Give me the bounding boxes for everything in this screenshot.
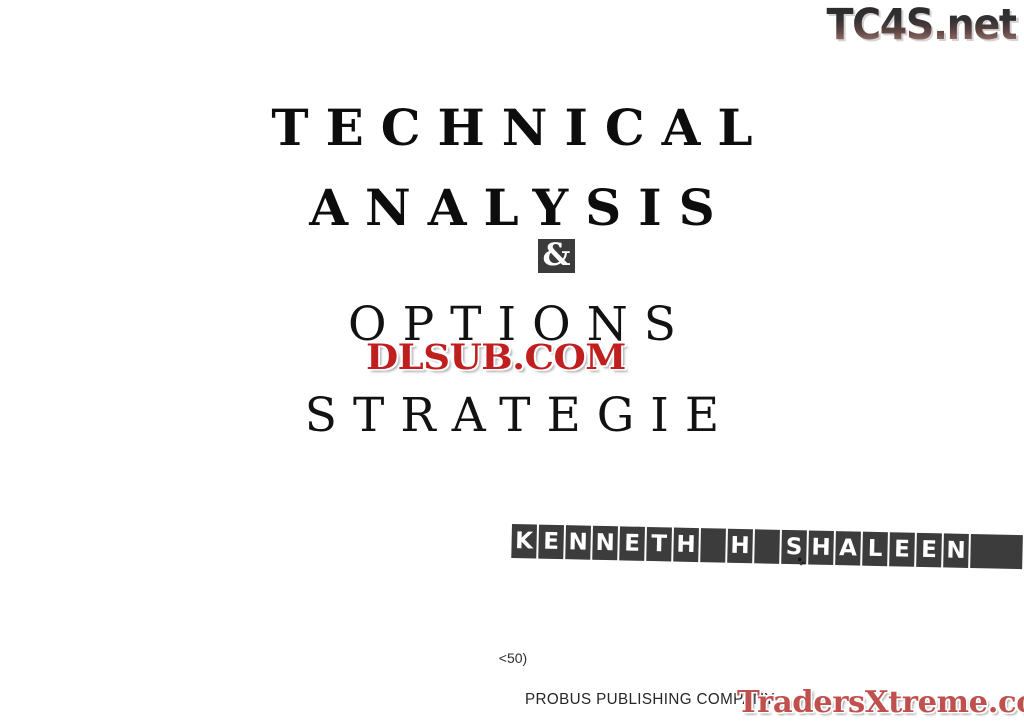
author-tile-blank [754, 529, 780, 564]
author-tile-letter: N [592, 526, 618, 561]
ampersand-plate: & [538, 239, 575, 273]
author-tile-letter: S [781, 530, 807, 565]
author-tile-blank [700, 528, 726, 563]
author-tile-letter: H [673, 528, 699, 563]
author-tile-letter: A [835, 531, 861, 566]
title-line-strategie: STRATEGIE [0, 388, 1024, 443]
author-tile-letter: E [916, 533, 942, 568]
author-tile-letter: E [538, 525, 564, 560]
author-tile-letter: E [889, 532, 915, 567]
tc4s-watermark: TC4S.net [826, 4, 1016, 47]
author-tile-letter: N [943, 533, 969, 568]
author-tile-letter: E [619, 526, 645, 561]
author-tile-letter: L [862, 532, 888, 567]
author-tile-blank [970, 534, 1023, 569]
author-name-strip: KENNETH H SHALEEN [511, 524, 1023, 569]
author-tile-letter: H [808, 530, 834, 565]
author-tile-letter: N [565, 525, 591, 560]
book-cover-page: TC4S.net TC4S.net TECHNICAL ANALYSIS & O… [0, 0, 1024, 724]
author-tile-letter: K [511, 524, 537, 559]
price-code-text: <50) [1, 650, 1024, 666]
author-tile-letter: T [646, 527, 672, 562]
ampersand-glyph: & [543, 240, 571, 271]
author-tile-letter: H [727, 529, 753, 564]
title-line-analysis: ANALYSIS [0, 178, 1024, 237]
dlsub-watermark: DLSUB.COM [366, 340, 626, 375]
tradersxtreme-watermark: TradersXtreme.com [737, 688, 1024, 718]
title-line-technical: TECHNICAL [0, 98, 1024, 157]
